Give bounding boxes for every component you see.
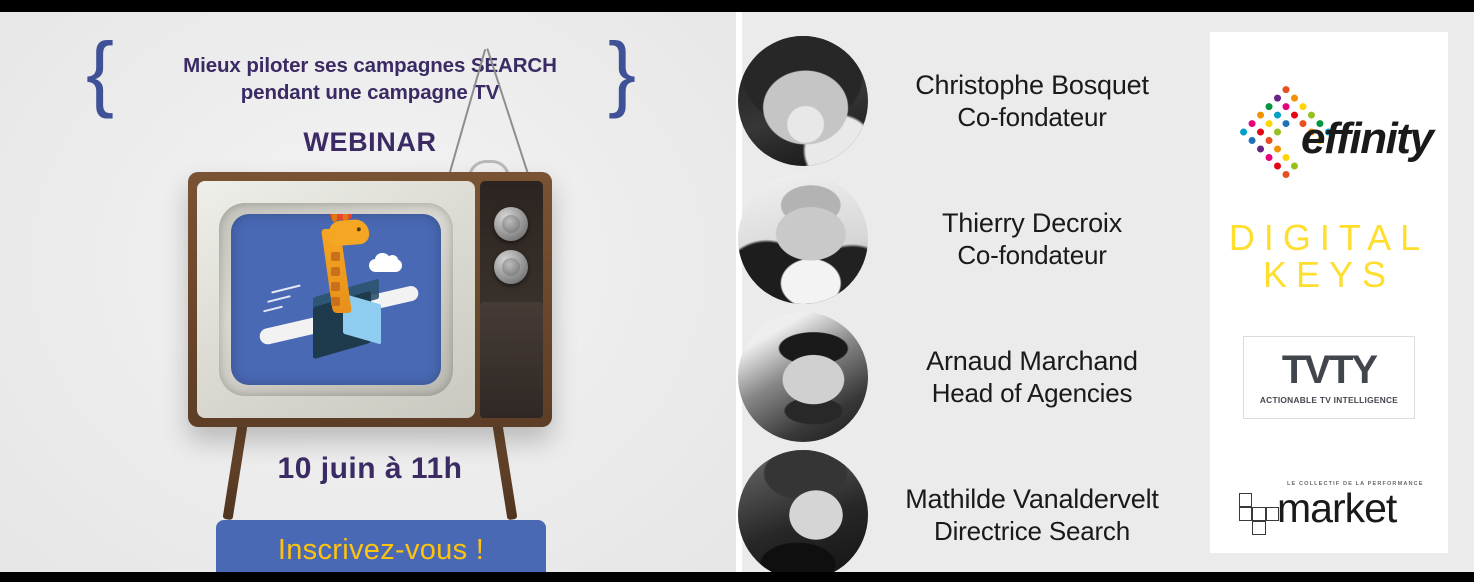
- logo-market: LE COLLECTIF DE LA PERFORMANCE market: [1210, 452, 1448, 572]
- tv-knob-bottom[interactable]: [494, 250, 528, 284]
- speaker-role: Co-fondateur: [868, 240, 1196, 272]
- avatar-photo-2: [738, 174, 868, 304]
- avatar: [738, 312, 868, 442]
- headline-line-1: Mieux piloter ses campagnes SEARCH: [120, 52, 620, 79]
- speakers-panel: Christophe Bosquet Co-fondateur Thierry …: [742, 12, 1202, 572]
- logo-digital-keys: DIGITAL KEYS: [1210, 202, 1448, 312]
- slide-canvas: { } Mieux piloter ses campagnes SEARCH p…: [0, 0, 1474, 582]
- digital-keys-line-1: DIGITAL: [1229, 220, 1429, 257]
- avatar-photo-4: [738, 450, 868, 580]
- speaker-name: Arnaud Marchand: [868, 345, 1196, 378]
- speaker-info: Arnaud Marchand Head of Agencies: [868, 345, 1202, 410]
- avatar-photo-3: [738, 312, 868, 442]
- speaker-row: Thierry Decroix Co-fondateur: [742, 170, 1202, 308]
- digital-keys-logo: DIGITAL KEYS: [1229, 220, 1429, 293]
- speaker-role: Directrice Search: [868, 516, 1196, 548]
- giraffe-eye: [357, 227, 361, 231]
- logos-panel: effinity DIGITAL KEYS TVTY ACTIONABLE TV…: [1210, 32, 1448, 553]
- event-date: 10 juin à 11h: [120, 452, 620, 486]
- tv-knob-top[interactable]: [494, 207, 528, 241]
- cloud-icon: [369, 259, 402, 272]
- webinar-label: WEBINAR: [120, 127, 620, 158]
- speaker-role: Co-fondateur: [868, 102, 1196, 134]
- speed-line-2: [267, 295, 291, 303]
- speaker-name: Thierry Decroix: [868, 207, 1196, 240]
- market-wordmark: market: [1277, 485, 1396, 532]
- speaker-info: Christophe Bosquet Co-fondateur: [868, 69, 1202, 134]
- digital-keys-line-2: KEYS: [1229, 257, 1429, 294]
- speaker-row: Mathilde Vanaldervelt Directrice Search: [742, 446, 1202, 582]
- brace-left-icon: {: [86, 30, 114, 114]
- avatar: [738, 36, 868, 166]
- retro-tv-illustration: [188, 172, 552, 427]
- tvty-wordmark: TVTY: [1282, 350, 1376, 390]
- speaker-name: Christophe Bosquet: [868, 69, 1196, 102]
- tvty-tagline: ACTIONABLE TV INTELLIGENCE: [1260, 395, 1398, 405]
- webinar-promo-panel: { } Mieux piloter ses campagnes SEARCH p…: [0, 12, 736, 572]
- speaker-role: Head of Agencies: [868, 378, 1196, 410]
- logo-tvty: TVTY ACTIONABLE TV INTELLIGENCE: [1210, 317, 1448, 437]
- tv-speaker-grill: [480, 302, 543, 418]
- avatar: [738, 174, 868, 304]
- giraffe-head: [328, 219, 370, 247]
- giraffe-spots: [329, 246, 344, 306]
- tv-screen: [231, 214, 441, 385]
- market-mark-icon: [1239, 493, 1279, 535]
- letterbox-bar-top: [0, 0, 1474, 12]
- effinity-wordmark: effinity: [1301, 114, 1432, 164]
- logo-effinity: effinity: [1210, 72, 1448, 202]
- avatar: [738, 450, 868, 580]
- speaker-name: Mathilde Vanaldervelt: [868, 483, 1196, 516]
- tv-front-face: [197, 181, 475, 418]
- speed-line-1: [271, 284, 301, 293]
- webinar-headline: Mieux piloter ses campagnes SEARCH penda…: [120, 52, 620, 106]
- tvty-logo: TVTY ACTIONABLE TV INTELLIGENCE: [1243, 336, 1415, 419]
- letterbox-bar-bottom: [0, 572, 1474, 582]
- register-button[interactable]: Inscrivez-vous !: [216, 520, 546, 572]
- headline-line-2: pendant une campagne TV: [120, 79, 620, 106]
- giraffe-plane-illustration: [231, 214, 441, 385]
- speaker-row: Christophe Bosquet Co-fondateur: [742, 32, 1202, 170]
- speaker-row: Arnaud Marchand Head of Agencies: [742, 308, 1202, 446]
- speed-line-3: [263, 306, 283, 313]
- avatar-photo-1: [738, 36, 868, 166]
- speaker-info: Mathilde Vanaldervelt Directrice Search: [868, 483, 1202, 548]
- market-logo: LE COLLECTIF DE LA PERFORMANCE market: [1229, 481, 1429, 543]
- speaker-info: Thierry Decroix Co-fondateur: [868, 207, 1202, 272]
- effinity-logo: effinity: [1229, 92, 1429, 182]
- tv-bezel: [219, 203, 453, 396]
